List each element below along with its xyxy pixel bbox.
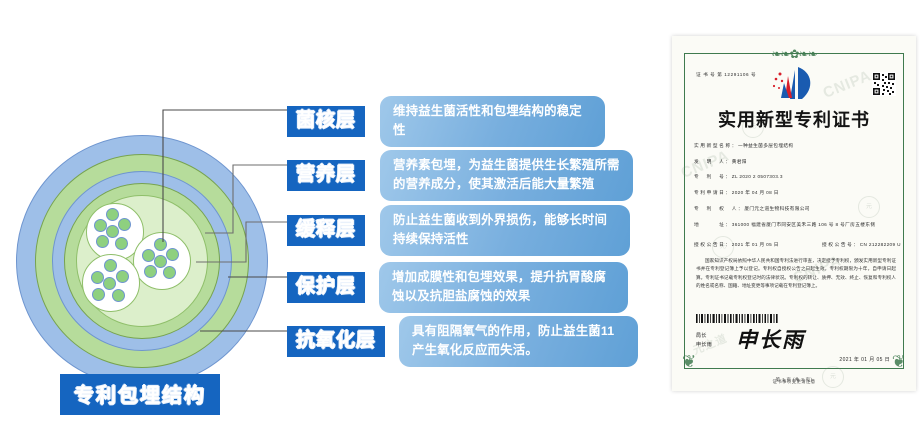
bacteria-dot xyxy=(112,289,125,302)
director-name-text: 申长雨 xyxy=(696,341,712,350)
layer-desc-1: 营养素包埋，为益生菌提供生长繁殖所需的营养成分，使其激活后能大量繁殖 xyxy=(380,150,633,201)
bacteria-cluster xyxy=(82,254,140,312)
patent-certificate[interactable]: ❧❧✿❧❧ ❦ ❦ CNIPA CNIPA CNIPA 元之道 元 元 元 元 … xyxy=(672,36,916,391)
layer-chip-3[interactable]: 保护层 xyxy=(287,272,365,303)
certificate-field-name: 实用新型名称：一种益生菌多层包埋结构 xyxy=(694,142,898,149)
layer-row-1: 营养层 营养素包埋，为益生菌提供生长繁殖所需的营养成分，使其激活后能大量繁殖 xyxy=(287,150,633,201)
field-value: 361000 福建省厦门市同安区美禾三路 106 号 8 号厂房五楼东侧 xyxy=(732,222,876,227)
field-key: 地 址： xyxy=(694,221,732,228)
layer-desc-4: 具有阻隔氧气的作用，防止益生菌11产生氧化反应而失活。 xyxy=(399,316,638,367)
certificate-director-label: 局长 申长雨 xyxy=(696,332,712,350)
certificate-legal-paragraph: 国家知识产权局依照中华人民共和国专利法进行审查，决定授予专利权，颁发实用新型专利… xyxy=(696,257,896,291)
bacteria-dot xyxy=(154,238,167,251)
bacteria-dot xyxy=(103,277,116,290)
certificate-footer-note: 证书事项变更请注意 xyxy=(672,379,916,385)
ornament-top-icon: ❧❧✿❧❧ xyxy=(771,47,816,61)
bacteria-dot xyxy=(106,208,119,221)
director-label-text: 局长 xyxy=(696,332,712,341)
field-value: 2020 年 04 月 08 日 xyxy=(732,190,779,195)
certificate-field-grant-number: 授权公告号：CN 212282209 U xyxy=(822,241,898,248)
field-key: 专利申请日： xyxy=(694,189,732,196)
field-value: 黄君阳 xyxy=(732,159,747,164)
field-value: ZL 2020 2 0507303.3 xyxy=(732,174,783,179)
layer-desc-3: 增加成膜性和包埋效果，提升抗胃酸腐蚀以及抗胆盐腐蚀的效果 xyxy=(379,262,628,313)
bacteria-dot xyxy=(115,237,128,250)
diagram-caption: 专利包埋结构 xyxy=(60,374,220,415)
field-value: CN 212282209 U xyxy=(860,242,901,247)
bacteria-dot xyxy=(166,248,179,261)
bacteria-dot xyxy=(106,225,119,238)
bacteria-dot xyxy=(96,235,109,248)
certificate-serial: 证 书 号 第 12291106 号 xyxy=(696,72,756,78)
ornament-corner-icon: ❦ xyxy=(682,353,708,373)
field-key: 授权公告日： xyxy=(694,241,732,248)
bacteria-dot xyxy=(163,266,176,279)
bacteria-dot xyxy=(92,288,105,301)
certificate-signed-date: 2021 年 01 月 05 日 xyxy=(839,356,890,363)
layer-chip-1[interactable]: 营养层 xyxy=(287,160,365,191)
layer-row-0: 菌核层 维持益生菌活性和包埋结构的稳定性 xyxy=(287,96,605,147)
cnipa-logo-icon xyxy=(768,64,820,102)
layer-desc-0: 维持益生菌活性和包埋结构的稳定性 xyxy=(380,96,605,147)
field-value: 厦门元之道生物科技有限公司 xyxy=(744,206,810,211)
certificate-signature: 申长雨 xyxy=(736,324,805,354)
layer-row-3: 保护层 增加成膜性和包埋效果，提升抗胃酸腐蚀以及抗胆盐腐蚀的效果 xyxy=(287,262,628,313)
encapsulation-diagram: 菌核层 维持益生菌活性和包埋结构的稳定性 营养层 营养素包埋，为益生菌提供生长繁… xyxy=(0,0,660,425)
certificate-field-patent-number: 专 利 号：ZL 2020 2 0507303.3 xyxy=(694,173,898,180)
qr-code-icon xyxy=(872,72,896,96)
certificate-field-address: 地 址：361000 福建省厦门市同安区美禾三路 106 号 8 号厂房五楼东侧 xyxy=(694,221,898,228)
layer-row-2: 缓释层 防止益生菌收到外界损伤，能够长时间持续保持活性 xyxy=(287,205,630,256)
layer-chip-2[interactable]: 缓释层 xyxy=(287,215,365,246)
layer-desc-2: 防止益生菌收到外界损伤，能够长时间持续保持活性 xyxy=(380,205,630,256)
bacteria-dot xyxy=(104,259,117,272)
certificate-field-inventor: 发 明 人：黄君阳 xyxy=(694,158,898,165)
layer-row-4: 抗氧化层 具有阻隔氧气的作用，防止益生菌11产生氧化反应而失活。 xyxy=(287,316,638,367)
field-value: 一种益生菌多层包埋结构 xyxy=(738,143,793,148)
certificate-title: 实用新型专利证书 xyxy=(672,106,916,132)
field-key: 授权公告号： xyxy=(822,241,860,248)
layer-chip-0[interactable]: 菌核层 xyxy=(287,106,365,137)
field-key: 发 明 人： xyxy=(694,158,732,165)
bacteria-cluster xyxy=(133,232,191,290)
barcode-icon xyxy=(696,314,778,323)
bacteria-dot xyxy=(118,218,131,231)
layer-chip-4[interactable]: 抗氧化层 xyxy=(287,326,385,357)
certificate-field-assignee: 专 利 权 人：厦门元之道生物科技有限公司 xyxy=(694,205,898,212)
field-key: 专 利 权 人： xyxy=(694,205,744,212)
certificate-field-application-date: 专利申请日：2020 年 04 月 08 日 xyxy=(694,189,898,196)
field-key: 实用新型名称： xyxy=(694,142,738,149)
field-value: 2021 年 01 月 05 日 xyxy=(732,242,779,247)
field-key: 专 利 号： xyxy=(694,173,732,180)
bacteria-dot xyxy=(144,265,157,278)
bacteria-dot xyxy=(116,270,129,283)
